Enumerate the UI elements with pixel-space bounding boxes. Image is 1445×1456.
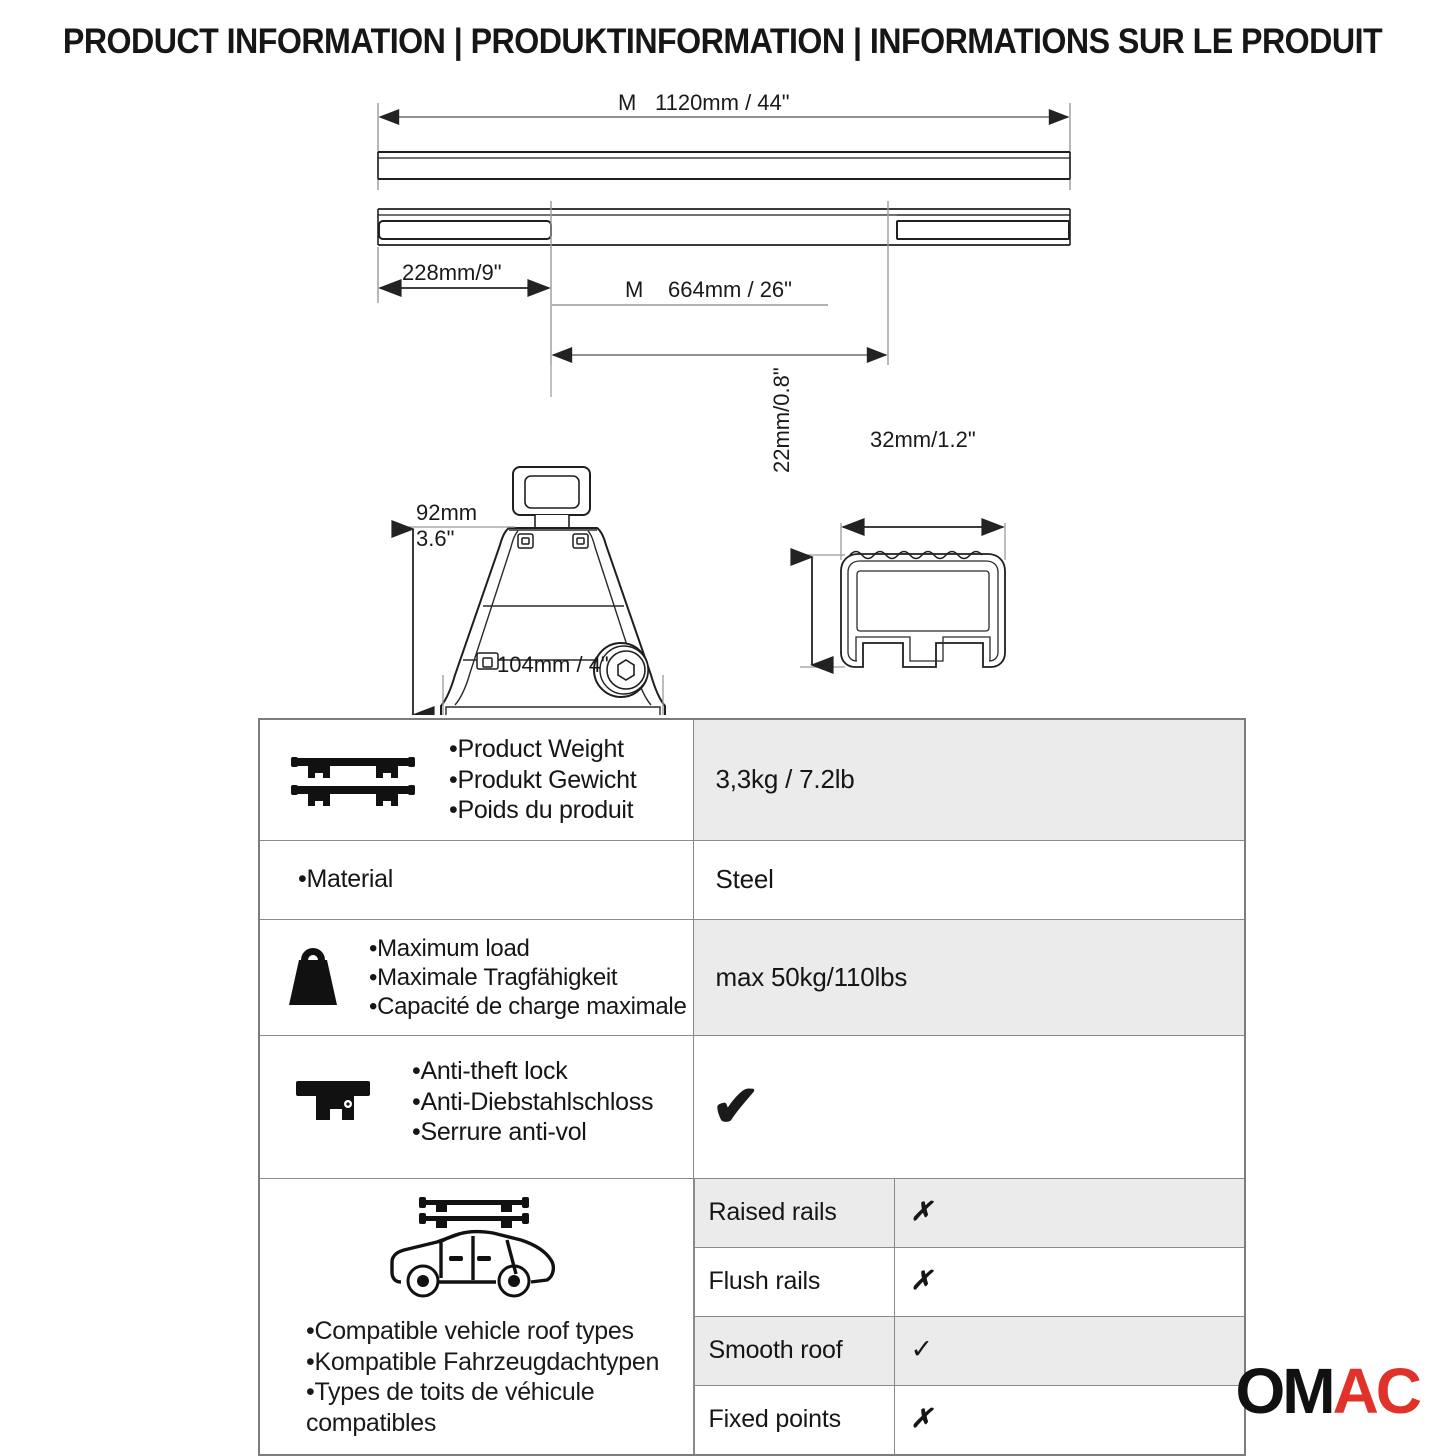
foot-height-dim-line1: 92mm [416, 500, 477, 526]
maximum-load-labels: •Maximum load •Maximale Tragfähigkeit •C… [365, 930, 693, 1026]
maximum-load-label-cell: •Maximum load •Maximale Tragfähigkeit •C… [259, 919, 693, 1036]
product-weight-label-cell: •Product Weight •Produkt Gewicht •Poids … [259, 719, 693, 840]
roof-type-row-raised-rails: Raised rails ✗ [694, 1179, 1244, 1248]
anti-theft-value-cell: ✔ [693, 1036, 1245, 1179]
roof-bars-icon [260, 750, 445, 810]
label-line: •Maximum load [369, 934, 687, 963]
product-weight-value-cell: 3,3kg / 7.2lb [693, 719, 1245, 840]
roof-types-label-cell: •Compatible vehicle roof types •Kompatib… [259, 1178, 693, 1455]
anti-theft-check-icon: ✔ [694, 1078, 1245, 1136]
cross-icon: ✗ [911, 1403, 933, 1433]
roof-type-name: Smooth roof [694, 1316, 894, 1385]
end-offset-dim: 228mm/9" [402, 260, 502, 286]
label-line: •Types de toits de véhicule [306, 1377, 693, 1408]
cross-icon: ✗ [911, 1265, 933, 1295]
material-value: Steel [694, 864, 1245, 895]
roof-type-row-fixed-points: Fixed points ✗ [694, 1385, 1244, 1454]
cross-icon: ✗ [911, 1196, 933, 1226]
roof-type-mark: ✗ [894, 1179, 1244, 1248]
page-title: PRODUCT INFORMATION | PRODUKTINFORMATION… [58, 22, 1387, 62]
label-line: •Product Weight [449, 734, 687, 765]
label-line: •Anti-theft lock [412, 1056, 687, 1087]
weight-icon [260, 943, 365, 1011]
label-line: •Anti-Diebstahlschloss [412, 1087, 687, 1118]
product-information-sheet: PRODUCT INFORMATION | PRODUKTINFORMATION… [0, 0, 1445, 1445]
specification-table: •Product Weight •Produkt Gewicht •Poids … [258, 718, 1246, 1456]
maximum-load-value: max 50kg/110lbs [694, 962, 1245, 993]
roof-types-matrix-cell: Raised rails ✗ Flush rails ✗ [693, 1178, 1245, 1455]
label-line: •Kompatible Fahrzeugdachtypen [306, 1347, 693, 1378]
check-icon: ✓ [911, 1334, 933, 1364]
roof-types-table: Raised rails ✗ Flush rails ✗ [694, 1179, 1245, 1454]
bar-length-dim-value: 1120mm / 44" [655, 90, 790, 116]
bar-length-dim-prefix: M [618, 90, 636, 116]
label-line: •Serrure anti-vol [412, 1117, 687, 1148]
table-row-anti-theft-lock: •Anti-theft lock •Anti-Diebstahlschloss … [259, 1036, 1245, 1179]
material-labels: •Material [260, 860, 693, 899]
roof-type-name: Raised rails [694, 1179, 894, 1248]
label-line: •Material [298, 864, 687, 895]
table-row-maximum-load: •Maximum load •Maximale Tragfähigkeit •C… [259, 919, 1245, 1036]
roof-type-mark: ✗ [894, 1385, 1244, 1454]
foot-spacing-dim-value: 664mm / 26" [668, 277, 792, 303]
profile-width-dim: 32mm/1.2" [870, 427, 976, 453]
foot-height-dim-line2: 3.6" [416, 526, 477, 552]
table-row-roof-types: •Compatible vehicle roof types •Kompatib… [259, 1178, 1245, 1455]
lock-icon [260, 1072, 408, 1132]
foot-spacing-dim-prefix: M [625, 277, 643, 303]
omac-logo: OMAC [1235, 1359, 1419, 1423]
technical-drawing-area: M 1120mm / 44" 228mm/9" M 664mm / 26" 92… [0, 75, 1445, 715]
label-line: •Poids du produit [449, 795, 687, 826]
product-weight-value: 3,3kg / 7.2lb [694, 764, 1245, 795]
anti-theft-label-cell: •Anti-theft lock •Anti-Diebstahlschloss … [259, 1036, 693, 1179]
logo-text-ac: AC [1333, 1355, 1419, 1427]
anti-theft-labels: •Anti-theft lock •Anti-Diebstahlschloss … [408, 1052, 693, 1152]
car-with-bars-icon [260, 1190, 693, 1310]
roof-type-name: Flush rails [694, 1247, 894, 1316]
table-row-material: •Material Steel [259, 840, 1245, 919]
label-line: •Compatible vehicle roof types [306, 1316, 693, 1347]
label-line: •Maximale Tragfähigkeit [369, 963, 687, 992]
material-value-cell: Steel [693, 840, 1245, 919]
label-line: •Produkt Gewicht [449, 765, 687, 796]
label-line: •Capacité de charge maximale [369, 992, 687, 1021]
roof-type-row-flush-rails: Flush rails ✗ [694, 1247, 1244, 1316]
roof-type-mark: ✓ [894, 1316, 1244, 1385]
foot-width-dim: 104mm / 4" [497, 652, 609, 678]
logo-text-om: OM [1235, 1355, 1332, 1427]
table-row-product-weight: •Product Weight •Produkt Gewicht •Poids … [259, 719, 1245, 840]
roof-type-name: Fixed points [694, 1385, 894, 1454]
roof-type-row-smooth-roof: Smooth roof ✓ [694, 1316, 1244, 1385]
product-weight-labels: •Product Weight •Produkt Gewicht •Poids … [445, 730, 693, 830]
profile-height-dim: 22mm/0.8" [769, 367, 795, 473]
maximum-load-value-cell: max 50kg/110lbs [693, 919, 1245, 1036]
label-line: compatibles [306, 1408, 693, 1439]
roof-types-labels: •Compatible vehicle roof types •Kompatib… [260, 1316, 693, 1438]
roof-type-mark: ✗ [894, 1247, 1244, 1316]
material-label-cell: •Material [259, 840, 693, 919]
